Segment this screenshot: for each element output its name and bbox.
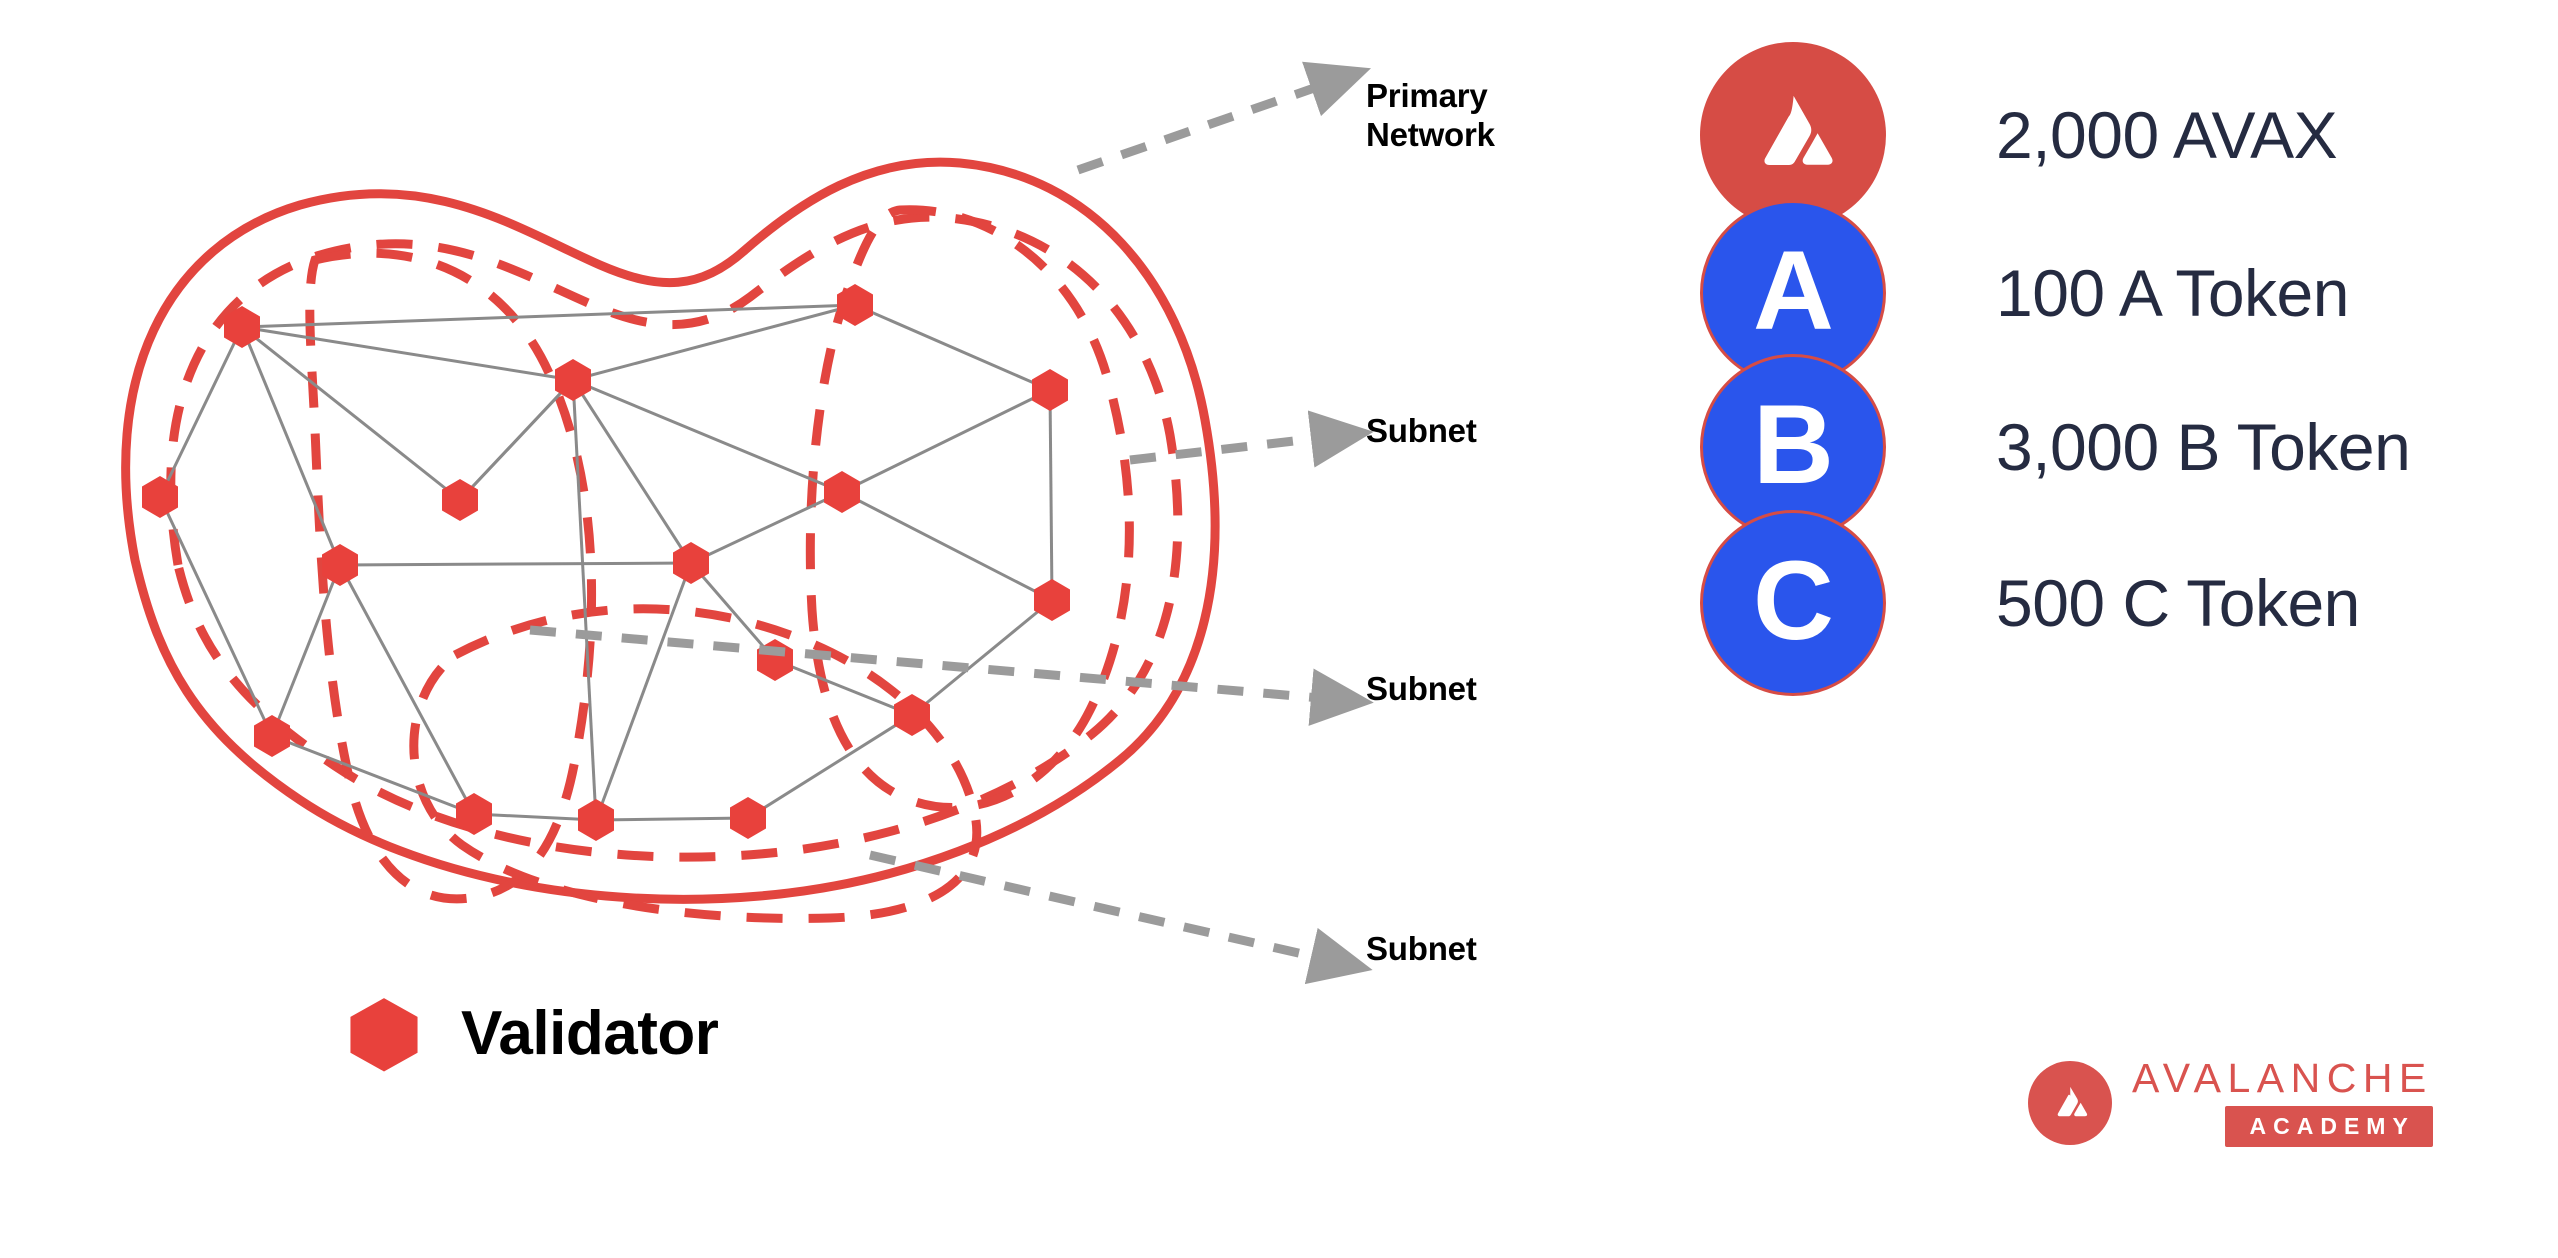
- brand-wordmark: AVALANCHE ACADEMY: [2132, 1058, 2433, 1147]
- badge-letter-b: B: [1753, 389, 1833, 501]
- arrow-subnet-c: [870, 855, 1320, 958]
- diagram-canvas: Primary Network Subnet Subnet Subnet Val…: [0, 0, 2558, 1258]
- validator-node: [578, 799, 614, 841]
- brand-word-academy: ACADEMY: [2225, 1106, 2433, 1147]
- arrow-subnet-a: [1130, 438, 1320, 460]
- validator-node: [1032, 369, 1068, 411]
- legend-amount-subnet-b: 3,000 B Token: [1996, 414, 2410, 480]
- callout-label-subnet-b: Subnet: [1366, 670, 1477, 709]
- avalanche-logo-icon: [2044, 1077, 2096, 1129]
- callout-label-subnet-c: Subnet: [1366, 930, 1477, 969]
- validator-legend-label: Validator: [461, 1003, 718, 1065]
- arrow-primary-network: [1078, 86, 1320, 170]
- validator-legend: Validator: [345, 995, 718, 1073]
- legend-amount-primary-network: 2,000 AVAX: [1996, 102, 2337, 168]
- badge-letter-a: A: [1753, 235, 1833, 347]
- network-diagram: [0, 0, 1430, 1060]
- validator-node: [322, 544, 358, 586]
- badge-letter-c: C: [1753, 545, 1833, 657]
- brand-word-avalanche: AVALANCHE: [2132, 1058, 2433, 1099]
- hexagon-icon: [345, 995, 423, 1073]
- callout-label-primary-network: Primary Network: [1366, 77, 1495, 155]
- legend-row-subnet-c: C 500 C Token: [1700, 508, 2360, 698]
- legend-amount-subnet-c: 500 C Token: [1996, 570, 2360, 636]
- legend-amount-subnet-a: 100 A Token: [1996, 260, 2349, 326]
- network-edges: [160, 305, 1052, 820]
- validator-node: [254, 715, 290, 757]
- subnet-c-badge: C: [1700, 510, 1886, 696]
- validator-node: [894, 694, 930, 736]
- avalanche-mark-icon: [2028, 1061, 2112, 1145]
- callout-label-subnet-a: Subnet: [1366, 412, 1477, 451]
- avalanche-academy-logo: AVALANCHE ACADEMY: [2028, 1058, 2433, 1147]
- avalanche-logo-icon: [1733, 75, 1853, 195]
- validator-node: [1034, 579, 1070, 621]
- validator-node: [824, 471, 860, 513]
- validator-node: [730, 797, 766, 839]
